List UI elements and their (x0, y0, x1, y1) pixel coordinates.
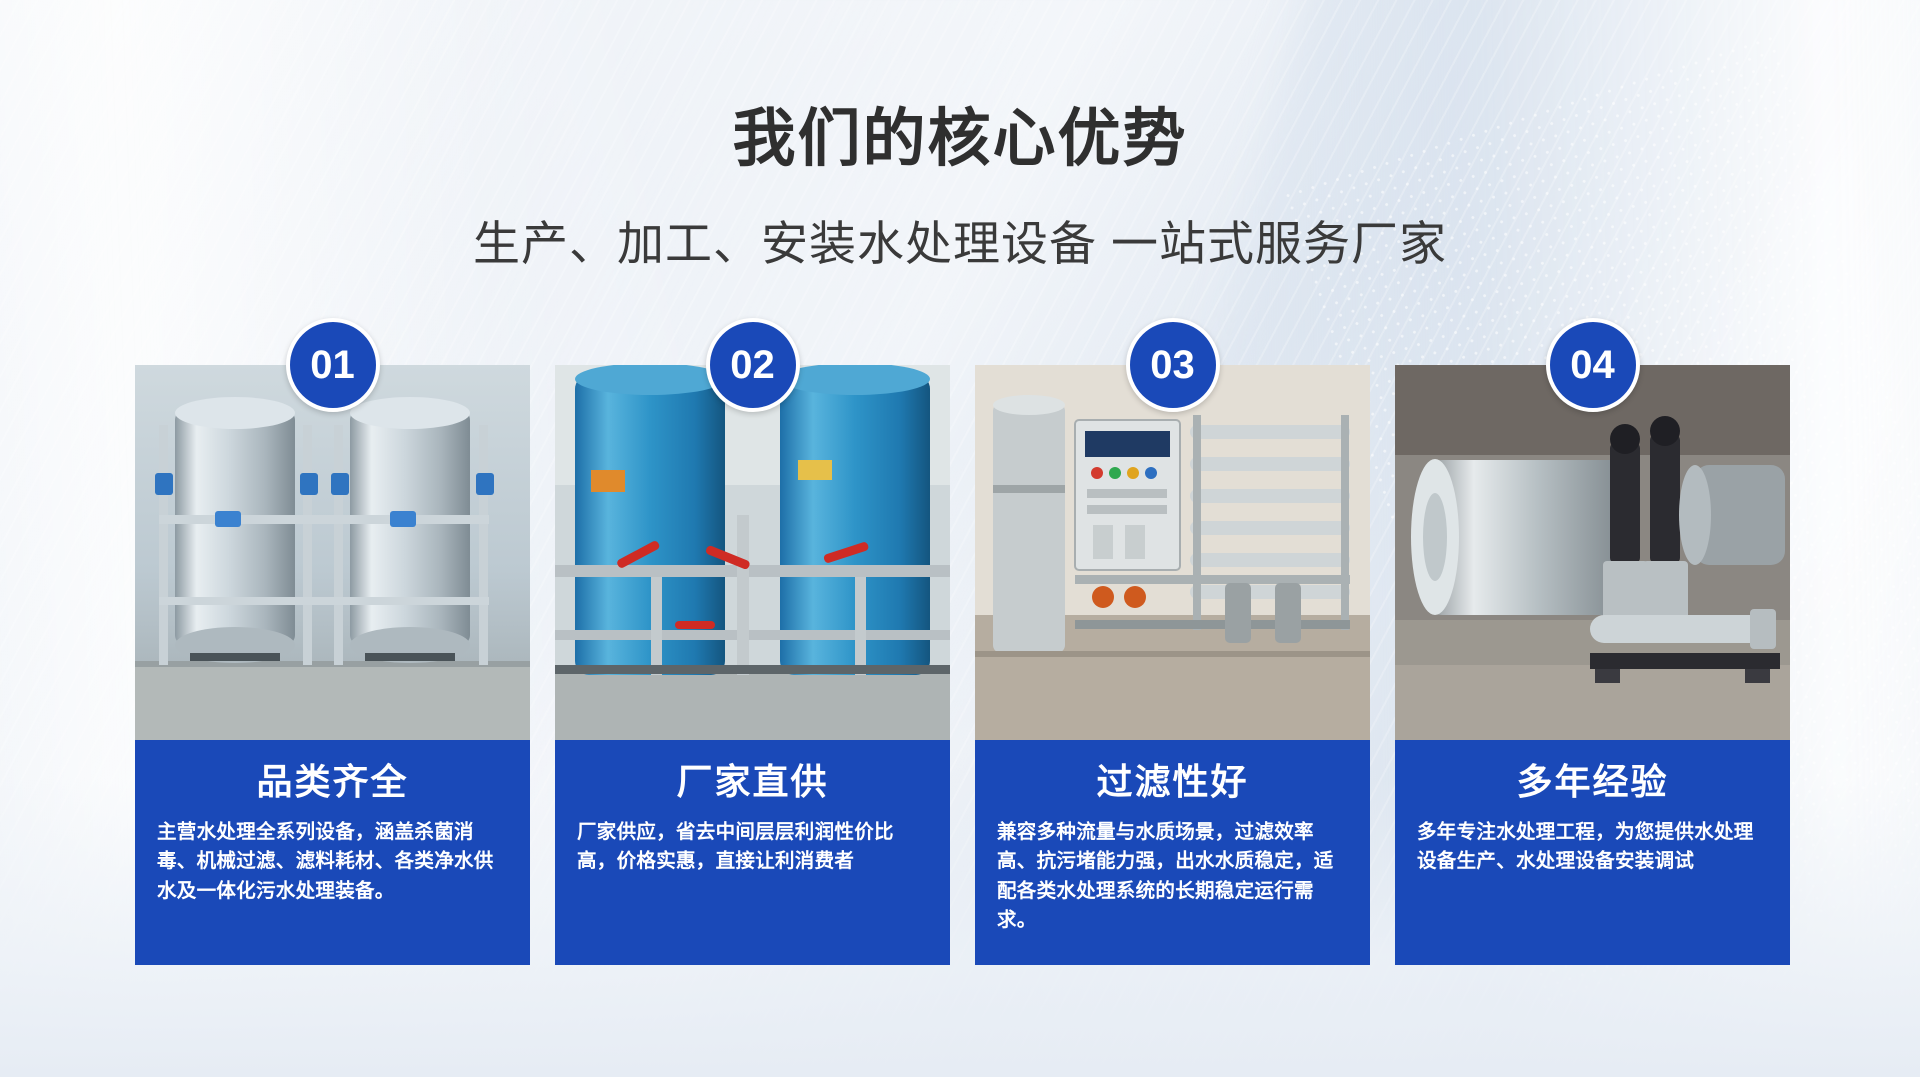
card-text-panel: 品类齐全 主营水处理全系列设备，涵盖杀菌消毒、机械过滤、滤料耗材、各类净水供水及… (135, 740, 530, 965)
card-number-badge: 04 (1546, 318, 1640, 412)
advantage-card[interactable]: 03 (975, 365, 1370, 965)
card-text-panel: 过滤性好 兼容多种流量与水质场景，过滤效率高、抗污堵能力强，出水水质稳定，适配各… (975, 740, 1370, 965)
page-subtitle: 生产、加工、安装水处理设备 一站式服务厂家 (0, 205, 1920, 274)
advantage-card[interactable]: 01 (135, 365, 530, 965)
card-number-badge: 03 (1126, 318, 1220, 412)
card-title: 厂家直供 (577, 762, 928, 802)
card-description: 厂家供应，省去中间层层利润性价比高，价格实惠，直接让利消费者 (577, 818, 928, 877)
page-title: 我们的核心优势 (0, 88, 1920, 179)
blue-pressure-vessels-illustration (555, 365, 950, 740)
card-text-panel: 多年经验 多年专注水处理工程，为您提供水处理设备生产、水处理设备安装调试 (1395, 740, 1790, 965)
card-description: 兼容多种流量与水质场景，过滤效率高、抗污堵能力强，出水水质稳定，适配各类水处理系… (997, 818, 1348, 937)
card-title: 品类齐全 (157, 762, 508, 802)
card-text-panel: 厂家直供 厂家供应，省去中间层层利润性价比高，价格实惠，直接让利消费者 (555, 740, 950, 965)
card-photo (1395, 365, 1790, 740)
card-number-badge: 02 (706, 318, 800, 412)
ro-skid-system-illustration (975, 365, 1370, 740)
card-title: 多年经验 (1417, 762, 1768, 802)
advantage-card[interactable]: 02 (555, 365, 950, 965)
card-photo (975, 365, 1370, 740)
card-number-badge: 01 (286, 318, 380, 412)
filter-tanks-illustration (135, 365, 530, 740)
card-description: 多年专注水处理工程，为您提供水处理设备生产、水处理设备安装调试 (1417, 818, 1768, 877)
advantage-card[interactable]: 04 (1395, 365, 1790, 965)
card-photo (135, 365, 530, 740)
card-title: 过滤性好 (997, 762, 1348, 802)
banner-stage: 我们的核心优势 生产、加工、安装水处理设备 一站式服务厂家 01 (0, 0, 1920, 1077)
booster-pump-unit-illustration (1395, 365, 1790, 740)
advantage-card-list: 01 (135, 365, 1790, 965)
card-photo (555, 365, 950, 740)
card-description: 主营水处理全系列设备，涵盖杀菌消毒、机械过滤、滤料耗材、各类净水供水及一体化污水… (157, 818, 508, 907)
